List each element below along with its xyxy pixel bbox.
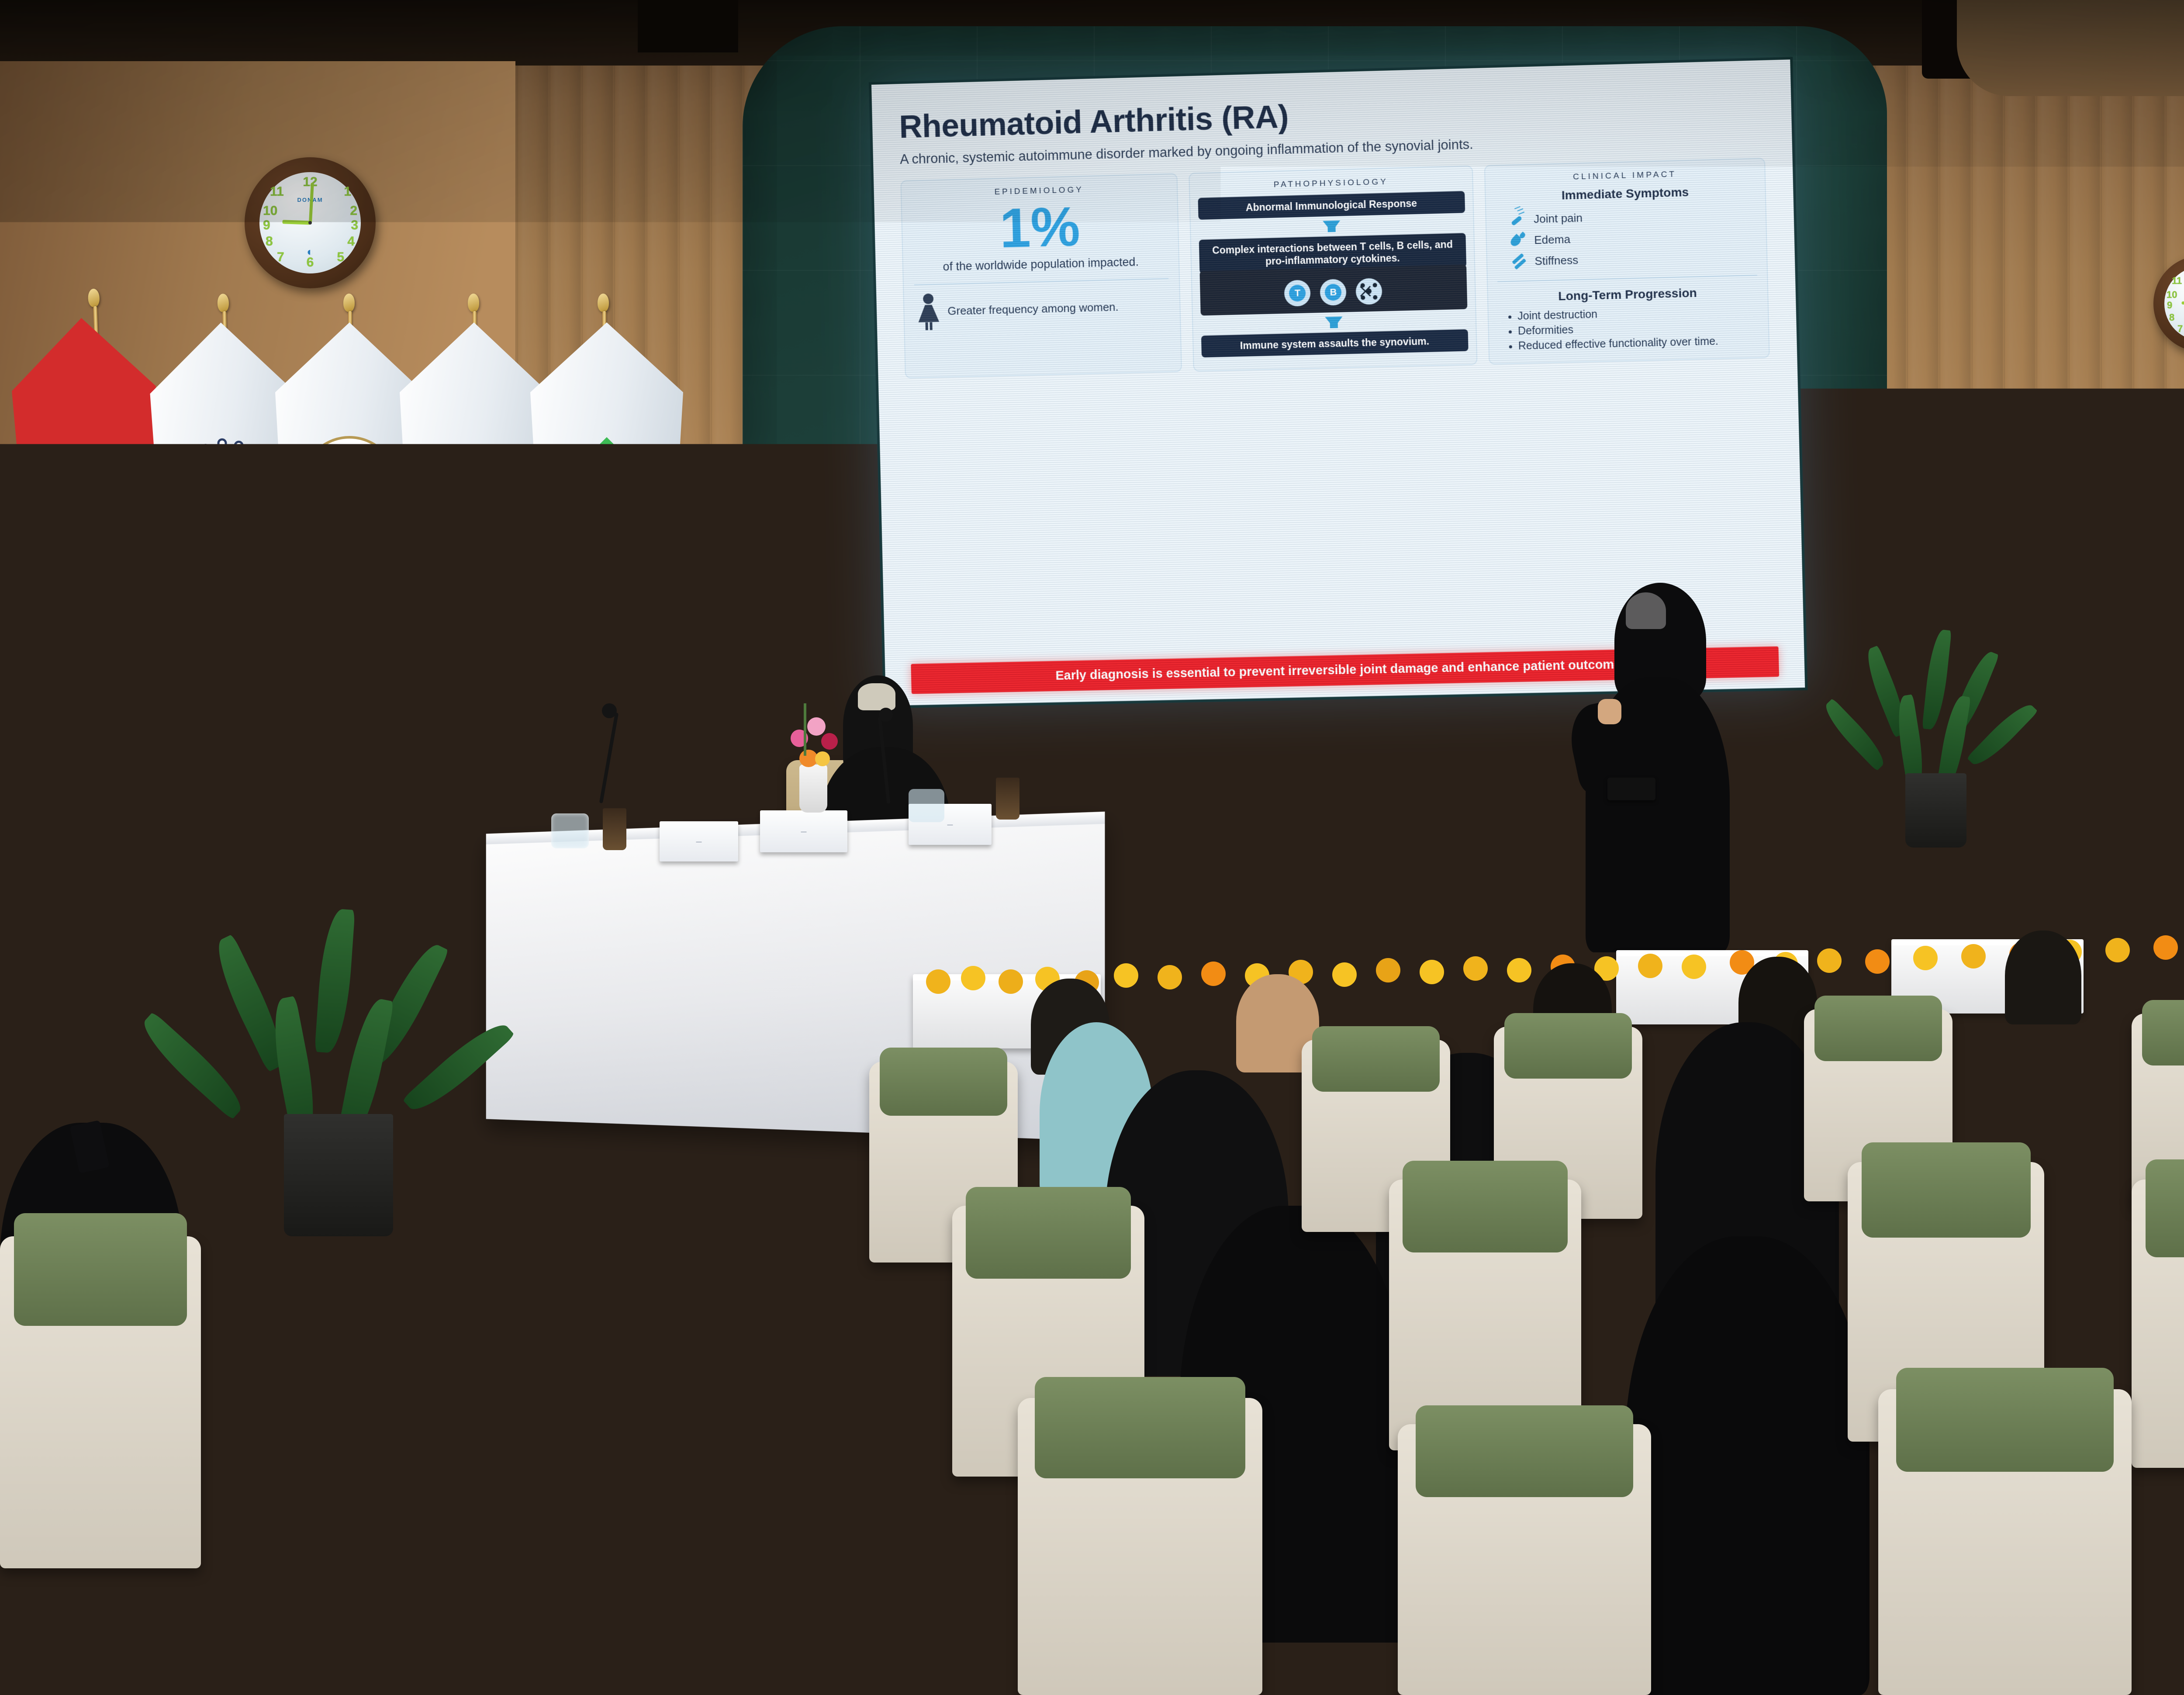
flag-emblem-he: [400, 445, 548, 545]
potted-plant-stage-right: [1856, 629, 2005, 935]
coffee-cup-2[interactable]: [996, 778, 1019, 820]
webometrics-line-1: RANKING WEB: [1223, 1626, 1396, 1650]
local-rankings-group: LOCALLY IEU NRQIU: [1760, 1602, 1974, 1682]
card-pathophysiology: PATHOPHYSIOLOGY Abnormal Immunological R…: [1189, 166, 1477, 372]
multirank-word: multirank: [1590, 1646, 1718, 1677]
epidemiology-note-row: Greater frequency among women.: [912, 287, 1172, 330]
flag-emblem-alkafeel: جامعة الكفيل University of Alkafeel: [530, 445, 683, 567]
uigm-sub: World University Rankings: [1477, 1666, 1579, 1676]
podium-desk-flags: [2036, 690, 2184, 751]
clinical-impact-header: CLINICAL IMPACT: [1493, 168, 1756, 184]
joint-pain-icon: [1509, 211, 1527, 228]
qs-star-icon: ★: [275, 1630, 332, 1687]
patho-step-3: Immune system assaults the synovium.: [1201, 329, 1469, 358]
audience-seat[interactable]: [2132, 1180, 2184, 1468]
sin-top-line: Times Higher Education: [823, 1624, 966, 1636]
t-cell-icon: T: [1284, 280, 1311, 307]
sin-hex-icon: [769, 1626, 817, 1674]
qs-star-icon: ★: [31, 1630, 87, 1687]
sin-line-2: Impact Network: [823, 1657, 966, 1677]
sdg-color-bar: [483, 1671, 587, 1682]
wur-line-1: WORLD: [671, 1629, 759, 1647]
impact-label: IMPACT: [483, 1629, 587, 1648]
webometrics-top: Webometrics: [1223, 1609, 1396, 1626]
epidemiology-note: Greater frequency among women.: [947, 300, 1119, 318]
qs-logo: QS: [31, 1539, 118, 1626]
female-figure-icon: [916, 293, 941, 330]
ieu-label: IEU: [1812, 1638, 1864, 1675]
the-wordmark: THE: [384, 1633, 480, 1677]
rur-abbr: RUR: [1132, 1614, 1215, 1642]
water-glass-1[interactable]: [551, 813, 589, 848]
symptom-row-edema: Edema: [1510, 225, 1759, 249]
flag-caption-ar: جامعة الكفيل: [569, 539, 645, 556]
b-cell-icon: B: [1320, 279, 1347, 305]
water-glass-2[interactable]: [909, 789, 944, 822]
flag-emblem: [151, 453, 297, 538]
immediate-symptoms-header: Immediate Symptoms: [1493, 183, 1757, 204]
desk-flag-ministry: [2071, 696, 2099, 749]
wur-line-2: UNIVERSITY: [671, 1647, 759, 1664]
desk-flag-iraq: [2036, 699, 2064, 750]
microphone-head-2: [879, 708, 893, 722]
the-wordmark-2: THE: [572, 1634, 667, 1678]
ieu-emblem-icon: [1760, 1630, 1804, 1682]
desk-flag-mohesr: [2106, 697, 2134, 750]
podium-microphone-head: [2089, 648, 2100, 660]
qs-star-icon: ★: [153, 1630, 210, 1687]
ceiling-recess-1: [638, 0, 738, 52]
the-impact-rankings-logo: GLOBALLY THE IMPACT RANKINGS: [384, 1604, 587, 1682]
cytokine-molecule-icon: [1356, 278, 1382, 304]
name-placard-2: —: [760, 810, 847, 852]
qs-star-row: ★ ★ ★ ★ ★: [31, 1630, 354, 1687]
uigm-metric: Metric: [1477, 1642, 1579, 1664]
multirank-u: u: [1673, 1624, 1700, 1651]
pathophysiology-header: PATHOPHYSIOLOGY: [1198, 175, 1465, 192]
name-placard-1: —: [660, 821, 738, 861]
flag-caption-mohesr: Republic of Iraq Ministry of Higher Educ…: [295, 536, 404, 560]
flag-mohesr: Republic of Iraq Ministry of Higher Educ…: [288, 306, 428, 769]
epidemiology-caption: of the worldwide population impacted.: [911, 254, 1171, 275]
down-arrow-icon-2: [1325, 317, 1343, 329]
ui-greenmetric-logo: UI Green Metric World University Ranking…: [1426, 1620, 1579, 1676]
uigm-ui: UI: [1426, 1620, 1474, 1657]
sin-line-1: Sustainability: [823, 1636, 966, 1657]
desk-flag-alkafeel: [2141, 697, 2169, 750]
rur-globe-icon: [1061, 1609, 1127, 1675]
coffee-cup-1[interactable]: [603, 808, 626, 850]
badge-locally: LOCALLY: [1771, 1602, 1855, 1623]
progression-list: Joint destruction Deformities Reduced ef…: [1496, 304, 1761, 355]
symptom-label: Stiffness: [1534, 253, 1578, 268]
rur-full: ROUND UNIVERSITY RANKING: [1132, 1642, 1215, 1670]
u-multirank-logo: u multirank: [1590, 1624, 1718, 1677]
symptom-label: Edema: [1534, 232, 1571, 247]
the-world-university-rankings-logo: THE WORLD UNIVERSITY RANKINGS: [572, 1629, 759, 1682]
qs-stars-rating: QS TEACHING ★ ★ ★ ★ ★: [31, 1539, 354, 1687]
card-clinical-impact: CLINICAL IMPACT Immediate Symptoms Joint…: [1484, 158, 1770, 365]
qs-star-icon: ★: [214, 1630, 271, 1687]
symptom-row-joint-pain: Joint pain: [1509, 204, 1758, 228]
cell-icons-group: T B: [1199, 265, 1467, 316]
sustainability-impact-network-logo: Times Higher Education Sustainability Im…: [769, 1624, 966, 1677]
flag-caption-en: University of Alkafeel: [562, 556, 651, 567]
patho-step-1: Abnormal Immunological Response: [1198, 191, 1465, 220]
wur-line-3: RANKINGS: [671, 1664, 759, 1682]
rur-logo: RUR ROUND UNIVERSITY RANKING: [1061, 1609, 1215, 1675]
flag-university-of-alkafeel: جامعة الكفيل University of Alkafeel: [542, 306, 686, 769]
edema-droplet-icon: [1510, 232, 1527, 249]
audience-head: [2005, 931, 2081, 1024]
flag-text-takbir: الله أكبر: [15, 492, 160, 523]
epidemiology-stat: 1%: [910, 199, 1171, 256]
branding-bar: QS TEACHING ★ ★ ★ ★ ★ GLOBALLY THE IMPAC…: [0, 1586, 2184, 1695]
down-arrow-icon: [1323, 221, 1341, 232]
stiffness-icon: [1510, 253, 1528, 270]
divider: [914, 278, 1168, 285]
presenter-speaker: [1577, 590, 1743, 952]
badge-globally: GLOBALLY: [384, 1604, 480, 1625]
symptom-row-stiffness: Stiffness: [1510, 247, 1759, 270]
flower-arrangement: [786, 699, 839, 813]
audience-seat[interactable]: [0, 1236, 201, 1568]
webometrics-logo: Webometrics RANKING WEB OF UNIVERSITIES: [1223, 1609, 1396, 1673]
qs-teaching-label: TEACHING: [122, 1592, 271, 1626]
symptom-label: Joint pain: [1534, 211, 1583, 226]
longterm-header: Long-Term Progression: [1496, 284, 1760, 305]
webometrics-line-2: OF UNIVERSITIES: [1223, 1650, 1396, 1673]
divider-2: [1497, 275, 1757, 282]
flag-emblem-mohesr: Republic of Iraq Ministry of Higher Educ…: [275, 436, 424, 560]
conference-hall-photo: Rheumatoid Arthritis (RA) A chronic, sys…: [0, 0, 2184, 1695]
card-epidemiology: EPIDEMIOLOGY 1% of the worldwide populat…: [900, 173, 1182, 378]
qs-star-icon: ★: [92, 1630, 149, 1687]
handheld-device[interactable]: [1607, 778, 1655, 800]
flag-higher-education: [413, 306, 553, 769]
microphone-head-1: [602, 703, 617, 718]
rankings-label: RANKINGS: [483, 1650, 587, 1669]
nrqiu-label: NRQIU: [1872, 1638, 1974, 1675]
podium-top: [2009, 743, 2184, 808]
ceiling-cove: [1957, 0, 2184, 96]
wall-clock-left: 12 1 2 3 4 5 6 7 8 9 10 11 DONAM ◐: [245, 157, 376, 288]
